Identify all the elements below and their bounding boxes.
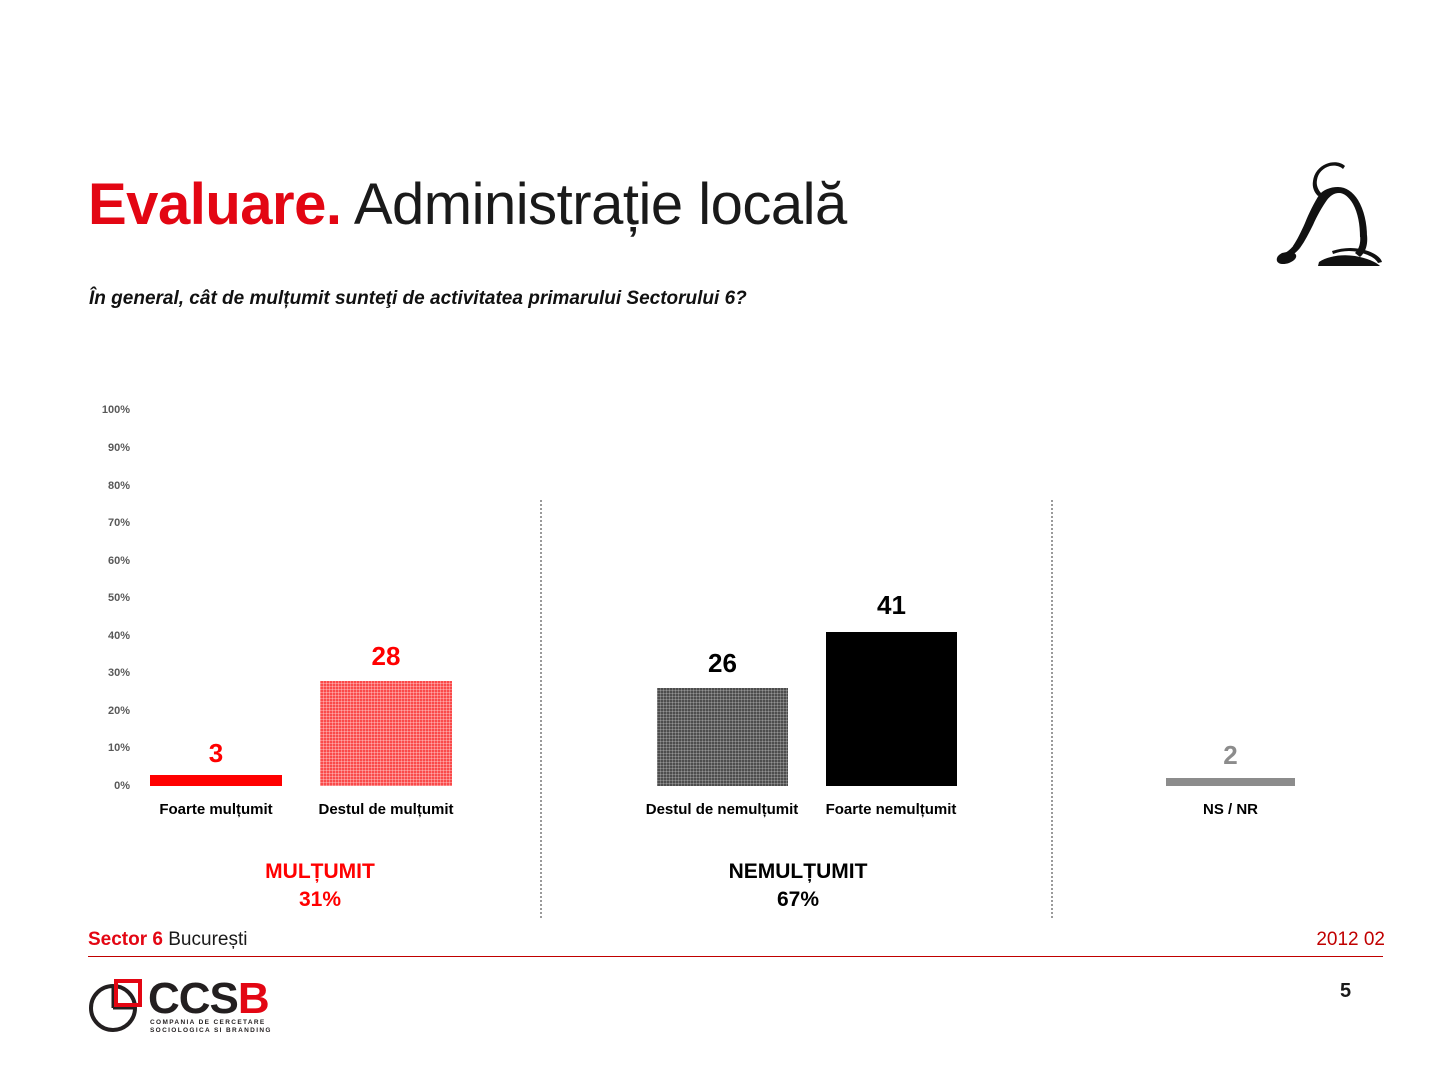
pie-chart-logo-icon (88, 977, 144, 1033)
data-label-ns-nr: 2 (1166, 740, 1295, 771)
group-summary-multumit-name: MULȚUMIT (220, 858, 420, 886)
ccsb-logo: CCSB COMPANIA DE CERCETARE SOCIOLOGICA S… (88, 975, 298, 1037)
footer-left: Sector 6 București (88, 929, 247, 951)
group-summary-nemultumit-percent: 67% (698, 886, 898, 914)
bar-chart: 100% 90% 80% 70% 60% 50% 40% 30% 20% 10%… (0, 0, 1437, 1079)
group-divider-right (1051, 500, 1053, 918)
group-summary-nemultumit-name: NEMULȚUMIT (698, 858, 898, 886)
bar-destul-de-multumit (320, 681, 452, 786)
data-label-foarte-nemultumit: 41 (826, 590, 957, 621)
category-label-foarte-multumit: Foarte mulțumit (136, 801, 296, 818)
footer-sector: Sector 6 (88, 929, 163, 950)
category-label-foarte-nemultumit: Foarte nemulțumit (801, 801, 981, 818)
bar-destul-de-nemultumit (657, 688, 788, 786)
data-label-foarte-multumit: 3 (150, 738, 282, 769)
data-label-destul-de-nemultumit: 26 (657, 648, 788, 679)
group-summary-multumit-percent: 31% (220, 886, 420, 914)
group-summary-multumit: MULȚUMIT 31% (220, 858, 420, 914)
footer-city: București (163, 929, 247, 950)
category-label-destul-de-multumit: Destul de mulțumit (296, 801, 476, 818)
ccsb-tagline-line2: SOCIOLOGICA SI BRANDING (150, 1027, 272, 1035)
category-label-ns-nr: NS / NR (1166, 801, 1295, 818)
data-label-destul-de-multumit: 28 (320, 641, 452, 672)
ccsb-tagline: COMPANIA DE CERCETARE SOCIOLOGICA SI BRA… (150, 1019, 272, 1035)
footer-date: 2012 02 (1290, 929, 1385, 951)
bar-ns-nr (1166, 778, 1295, 786)
slide-canvas: Evaluare. Administrație locală În (0, 0, 1437, 1079)
ccsb-wordmark: CCSB (148, 977, 269, 1021)
bar-foarte-nemultumit (826, 632, 957, 786)
bar-foarte-multumit (150, 775, 282, 786)
group-summary-nemultumit: NEMULȚUMIT 67% (698, 858, 898, 914)
footer-divider-rule (88, 956, 1383, 957)
page-number: 5 (1340, 980, 1351, 1003)
ccsb-tagline-line1: COMPANIA DE CERCETARE (150, 1019, 272, 1027)
ccsb-wordmark-black: CCS (148, 974, 238, 1023)
ccsb-wordmark-red: B (238, 974, 269, 1023)
category-label-destul-de-nemultumit: Destul de nemulțumit (632, 801, 812, 818)
group-divider-left (540, 500, 542, 918)
